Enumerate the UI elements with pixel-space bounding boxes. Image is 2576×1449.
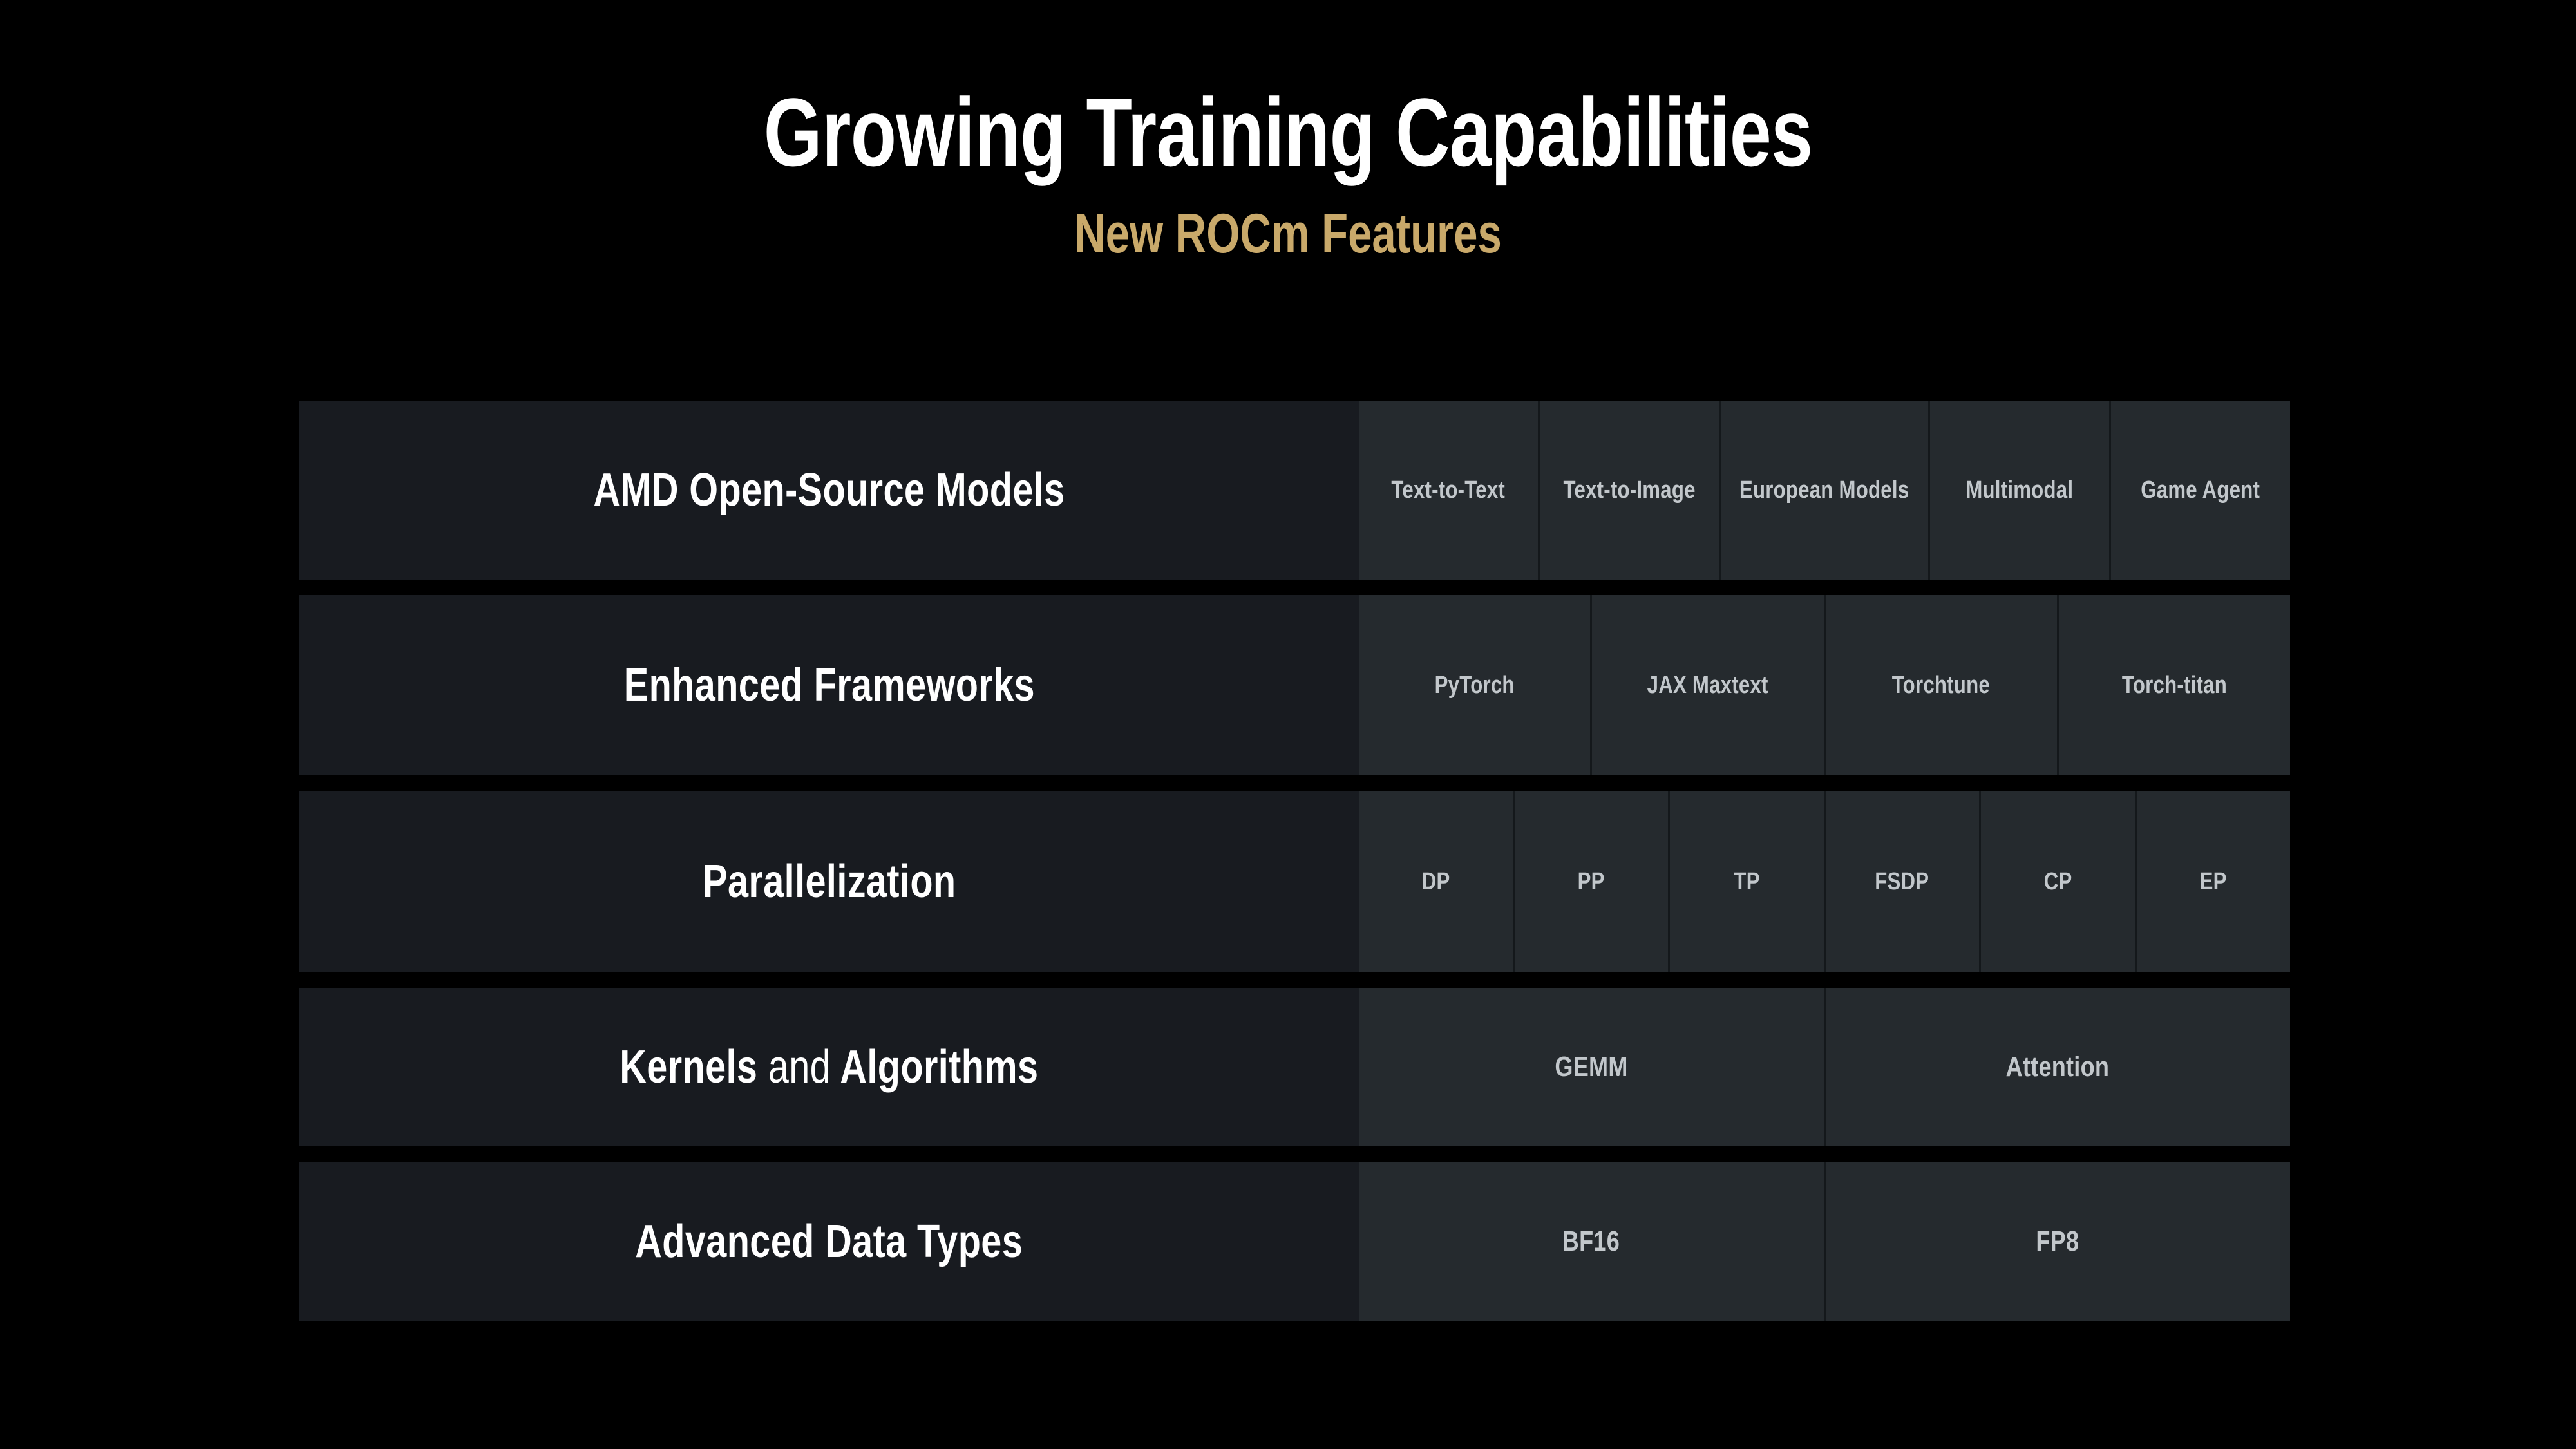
row-items: GEMM Attention <box>1359 988 2290 1146</box>
cell-label: Torchtune <box>1892 673 1990 697</box>
cell-label: FSDP <box>1875 869 1929 894</box>
cell-label: FP8 <box>2036 1227 2079 1256</box>
row-label-text: Enhanced Frameworks <box>623 662 1034 708</box>
table-cell[interactable]: Attention <box>1826 988 2291 1146</box>
row-label-text: Parallelization <box>703 858 956 905</box>
page-subtitle: New ROCm Features <box>283 206 2293 261</box>
row-items: BF16 FP8 <box>1359 1162 2290 1321</box>
cell-label: BF16 <box>1562 1227 1620 1256</box>
row-label-text: Kernels and Algorithms <box>620 1044 1038 1090</box>
table-cell[interactable]: CP <box>1981 791 2137 972</box>
table-cell[interactable]: TP <box>1670 791 1826 972</box>
cell-label: EP <box>2200 869 2227 894</box>
table-row: Parallelization DP PP TP FSDP CP <box>299 791 2290 972</box>
table-cell[interactable]: Game Agent <box>2111 401 2290 580</box>
cell-label: DP <box>1421 869 1450 894</box>
table-cell[interactable]: Torch-titan <box>2059 595 2290 775</box>
table-cell[interactable]: BF16 <box>1359 1162 1826 1321</box>
cell-label: GEMM <box>1555 1053 1627 1081</box>
cell-label: Text-to-Text <box>1392 478 1506 502</box>
row-items: Text-to-Text Text-to-Image European Mode… <box>1359 401 2290 580</box>
cell-label: CP <box>2043 869 2072 894</box>
cell-label: PP <box>1578 869 1605 894</box>
cell-label: TP <box>1734 869 1759 894</box>
row-items: PyTorch JAX Maxtext Torchtune Torch-tita… <box>1359 595 2290 775</box>
row-label-cell: Advanced Data Types <box>299 1162 1359 1321</box>
table-cell[interactable]: PyTorch <box>1359 595 1592 775</box>
row-label-cell: AMD Open-Source Models <box>299 401 1359 580</box>
cell-label: Torch-titan <box>2122 673 2227 697</box>
table-row: Kernels and Algorithms GEMM Attention <box>299 988 2290 1146</box>
row-label-part-first: Kernels <box>620 1041 757 1093</box>
row-label-cell: Kernels and Algorithms <box>299 988 1359 1146</box>
page-title: Growing Training Capabilities <box>283 84 2293 180</box>
row-label-text: Advanced Data Types <box>636 1218 1023 1265</box>
slide-root: Growing Training Capabilities New ROCm F… <box>0 0 2576 1449</box>
cell-label: Text-to-Image <box>1564 478 1696 502</box>
table-cell[interactable]: Text-to-Text <box>1359 401 1540 580</box>
row-label-part-second: Algorithms <box>840 1041 1039 1093</box>
row-label-cell: Enhanced Frameworks <box>299 595 1359 775</box>
cell-label: JAX Maxtext <box>1647 673 1768 697</box>
table-row: Advanced Data Types BF16 FP8 <box>299 1162 2290 1321</box>
row-label-part-conjunction: and <box>768 1041 831 1093</box>
table-cell[interactable]: PP <box>1515 791 1671 972</box>
table-cell[interactable]: FP8 <box>1826 1162 2291 1321</box>
row-label-text: AMD Open-Source Models <box>593 467 1065 513</box>
table-cell[interactable]: European Models <box>1721 401 1929 580</box>
cell-label: European Models <box>1739 478 1909 502</box>
table-cell[interactable]: Torchtune <box>1826 595 2059 775</box>
cell-label: Multimodal <box>1965 478 2073 502</box>
table-cell[interactable]: Multimodal <box>1930 401 2111 580</box>
cell-label: Attention <box>2006 1053 2110 1081</box>
table-cell[interactable]: EP <box>2137 791 2291 972</box>
table-cell[interactable]: FSDP <box>1826 791 1982 972</box>
table-cell[interactable]: JAX Maxtext <box>1592 595 1825 775</box>
cell-label: Game Agent <box>2141 478 2260 502</box>
table-cell[interactable]: DP <box>1359 791 1515 972</box>
row-items: DP PP TP FSDP CP EP <box>1359 791 2290 972</box>
table-row: AMD Open-Source Models Text-to-Text Text… <box>299 401 2290 580</box>
capabilities-table: AMD Open-Source Models Text-to-Text Text… <box>299 401 2290 1321</box>
table-cell[interactable]: GEMM <box>1359 988 1826 1146</box>
table-cell[interactable]: Text-to-Image <box>1540 401 1721 580</box>
row-label-cell: Parallelization <box>299 791 1359 972</box>
slide-header: Growing Training Capabilities New ROCm F… <box>0 0 2576 261</box>
cell-label: PyTorch <box>1435 673 1515 697</box>
table-row: Enhanced Frameworks PyTorch JAX Maxtext … <box>299 595 2290 775</box>
